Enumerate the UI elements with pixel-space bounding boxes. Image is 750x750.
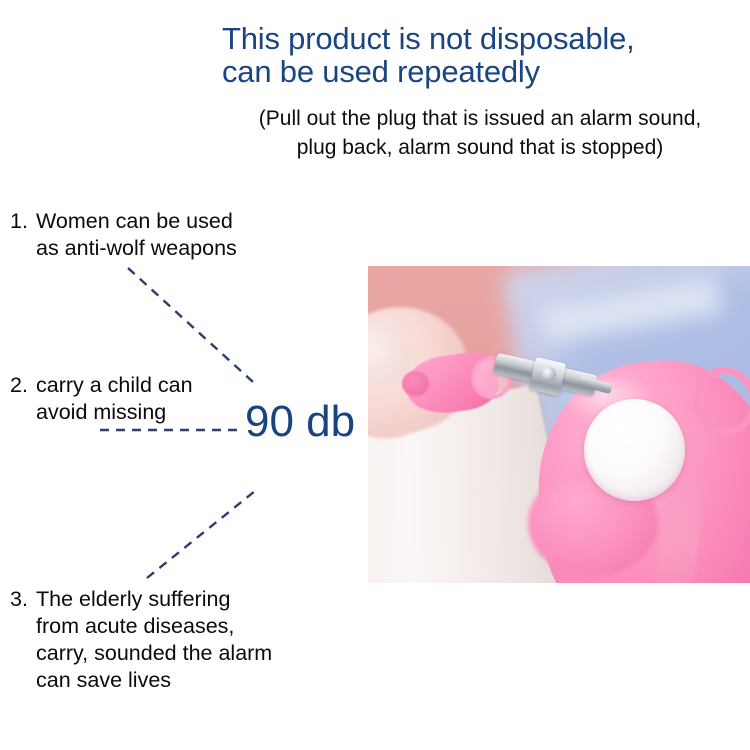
feature-item-3-text: The elderly suffering from acute disease… [36,586,272,694]
feature-item-2-number: 2. [10,372,36,399]
feature-item-2: 2. carry a child can avoid missing [10,372,193,426]
page-subtitle-line-1: (Pull out the plug that is issued an ala… [215,104,745,133]
feature-item-3: 3. The elderly suffering from acute dise… [10,586,272,694]
product-feature-page: This product is not disposable, can be u… [0,0,750,750]
feature-item-1-line-2: as anti-wolf weapons [36,235,237,262]
alarm-button [584,399,685,500]
product-photo [368,266,750,583]
metal-clip-screw [542,367,556,381]
feature-item-2-text: carry a child can avoid missing [36,372,193,426]
feature-item-1-line-1: Women can be used [36,208,237,235]
page-title: This product is not disposable, can be u… [222,22,744,88]
page-subtitle-line-2: plug back, alarm sound that is stopped) [215,133,745,162]
feature-3-connector-line [147,491,255,578]
feature-item-1-text: Women can be used as anti-wolf weapons [36,208,237,262]
feature-item-2-line-1: carry a child can [36,372,193,399]
feature-item-3-line-1: The elderly suffering [36,586,272,613]
feature-item-3-number: 3. [10,586,36,613]
pull-plug-nub [402,371,429,396]
decibel-callout: 90 db [245,398,355,446]
feature-item-2-line-2: avoid missing [36,399,193,426]
page-title-line-1: This product is not disposable, [222,22,744,55]
feature-item-3-line-4: can save lives [36,667,272,694]
feature-1-connector-line [128,268,253,382]
page-title-line-2: can be used repeatedly [222,55,744,88]
feature-item-1-number: 1. [10,208,36,235]
feature-item-1: 1. Women can be used as anti-wolf weapon… [10,208,237,262]
feature-item-3-line-3: carry, sounded the alarm [36,640,272,667]
feature-item-3-line-2: from acute diseases, [36,613,272,640]
page-subtitle: (Pull out the plug that is issued an ala… [215,104,745,162]
